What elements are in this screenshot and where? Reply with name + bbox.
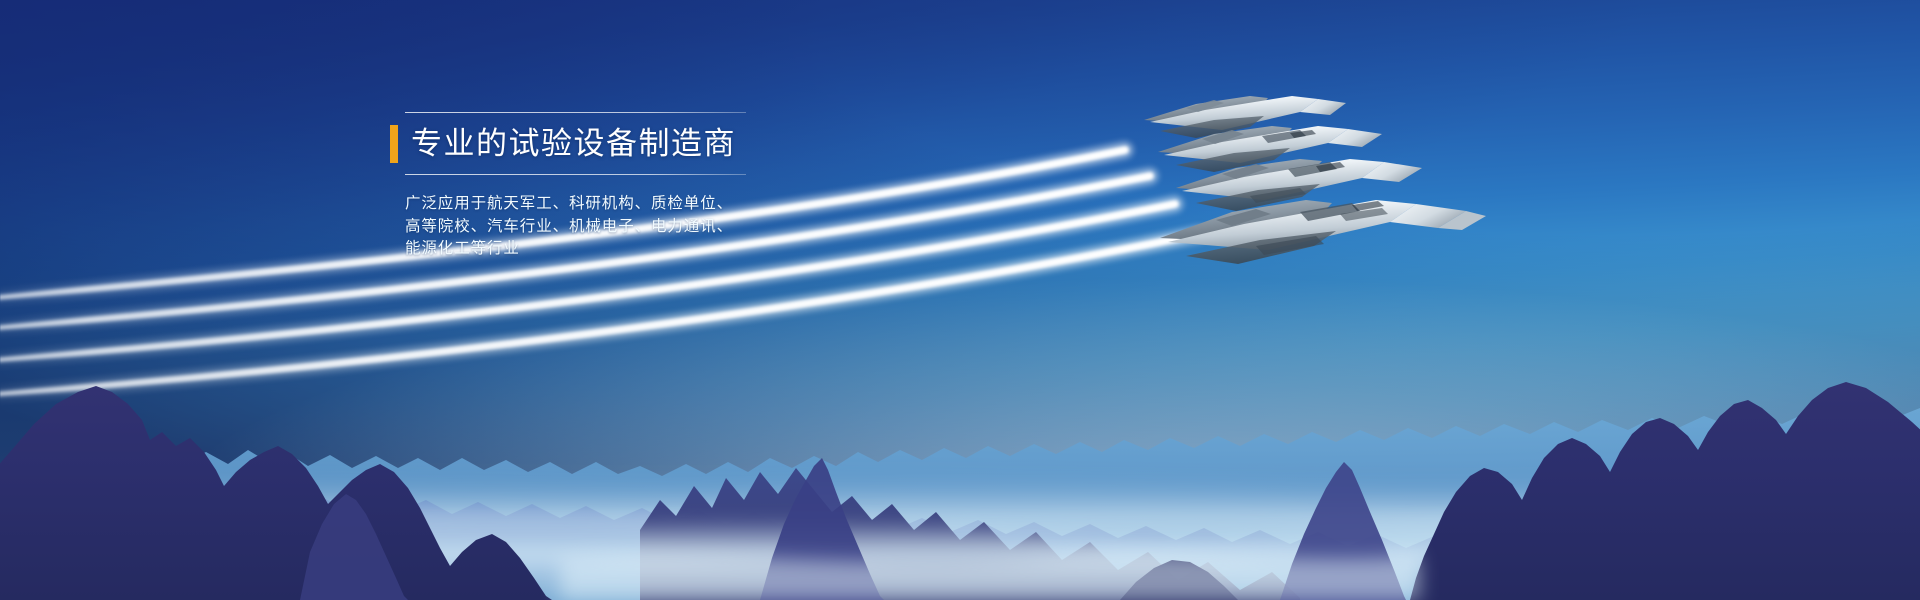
headline-row: 专业的试验设备制造商 — [390, 122, 820, 166]
ridge-near-right — [1410, 382, 1920, 600]
banner-copy: 专业的试验设备制造商 广泛应用于航天军工、科研机构、质检单位、 高等院校、汽车行… — [390, 112, 820, 260]
page-title: 专业的试验设备制造商 — [411, 125, 736, 163]
subcopy-line-1: 广泛应用于航天军工、科研机构、质检单位、 — [405, 192, 820, 215]
hero-banner: 专业的试验设备制造商 广泛应用于航天军工、科研机构、质检单位、 高等院校、汽车行… — [0, 0, 1920, 600]
subcopy-line-3: 能源化工等行业 — [405, 237, 820, 260]
rule-bottom-divider — [405, 174, 746, 175]
accent-bar — [390, 125, 398, 163]
mountain-range-group — [0, 0, 1920, 600]
subcopy-line-2: 高等院校、汽车行业、机械电子、电力通讯、 — [405, 215, 820, 238]
subcopy-block: 广泛应用于航天军工、科研机构、质检单位、 高等院校、汽车行业、机械电子、电力通讯… — [405, 192, 820, 260]
rule-top-divider — [405, 112, 746, 113]
